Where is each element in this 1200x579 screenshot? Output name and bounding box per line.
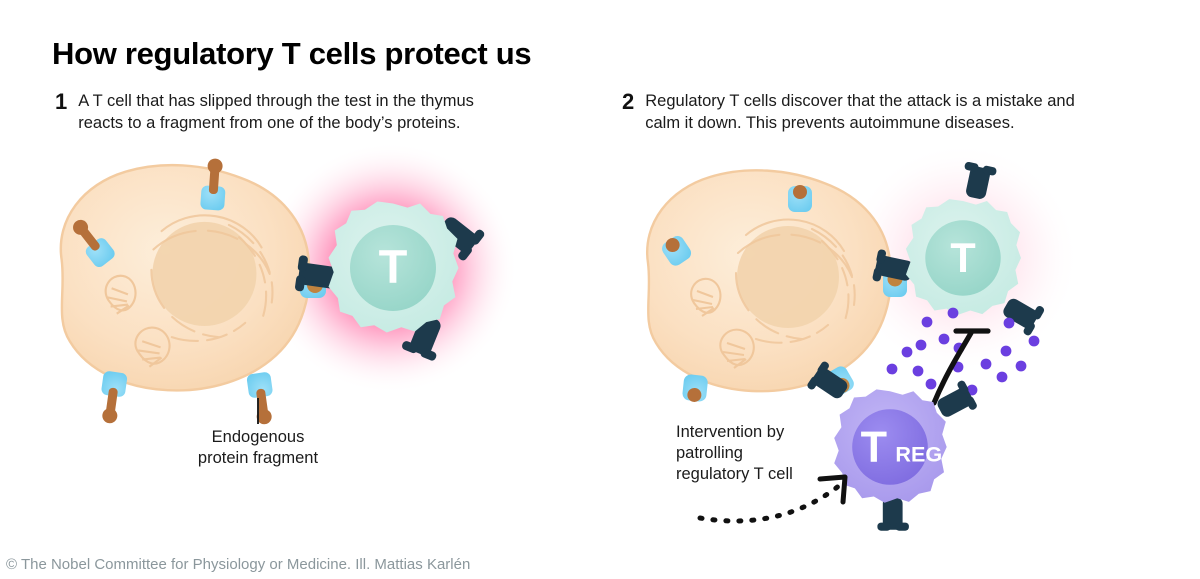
cytokine-dot: [1029, 336, 1040, 347]
mhc-peptide-labelled-p1: [246, 371, 277, 425]
cytokine-dot: [997, 372, 1008, 383]
mhc-peptide-bottomleft-p1: [97, 370, 128, 424]
figure-canvas: How regulatory T cells protect us 1 A T …: [0, 0, 1200, 579]
cytokine-dot: [981, 359, 992, 370]
cytokine-dot: [1016, 361, 1027, 372]
body-cell-panel1: [61, 165, 310, 390]
treg-label-sub: REG: [895, 441, 942, 466]
mhc-peptide-top-p2: [788, 185, 812, 212]
cytokine-dot: [902, 347, 913, 358]
cytokine-dot: [1001, 346, 1012, 357]
callout-endogenous-protein-fragment: Endogenous protein fragment: [144, 427, 372, 469]
body-cell-panel2: [647, 170, 891, 391]
cytokine-dot: [916, 340, 927, 351]
cytokine-dot: [948, 308, 959, 319]
copyright-notice: © The Nobel Committee for Physiology or …: [6, 556, 470, 573]
callout-intervention-regulatory-t-cell: Intervention by patrolling regulatory T …: [676, 422, 866, 485]
illustration: T: [0, 0, 1200, 579]
cytokine-dot: [887, 364, 898, 375]
t-cell-label: T: [950, 235, 975, 281]
cytokine-dot: [939, 334, 950, 345]
t-cell-label: T: [379, 240, 408, 293]
treg-receptor-bottom: [877, 497, 909, 530]
peptide-head: [793, 185, 807, 199]
cytokine-dot: [913, 366, 924, 377]
cytokine-dot: [926, 379, 937, 390]
cytokine-dot: [1004, 318, 1015, 329]
mhc-peptide-bottomleft-p2: [682, 374, 709, 403]
cytokine-dot: [922, 317, 933, 328]
